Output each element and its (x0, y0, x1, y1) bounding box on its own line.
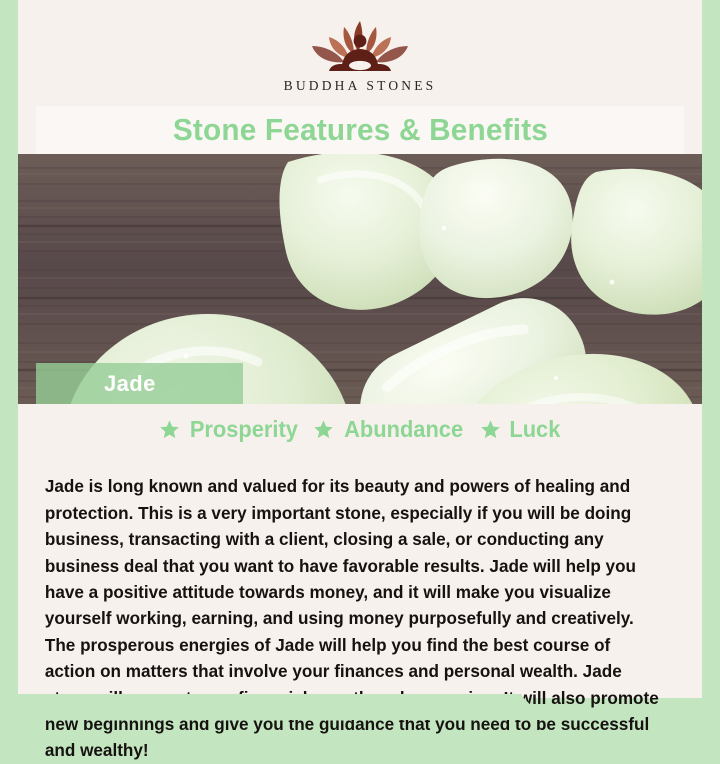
star-icon (313, 419, 334, 440)
brand-wordmark: BUDDHA STONES (284, 78, 437, 94)
stone-name-label: Jade (104, 371, 156, 397)
benefit-item-abundance: Abundance (313, 416, 466, 443)
brand-header: BUDDHA STONES (18, 0, 702, 108)
stone-description: Jade is long known and valued for its be… (36, 473, 674, 763)
lotus-meditation-icon (300, 15, 420, 77)
page-title: Stone Features & Benefits (172, 112, 547, 148)
stone-name-banner: Jade (36, 363, 243, 404)
bottom-accent-bar (0, 694, 545, 720)
title-band: Stone Features & Benefits (36, 106, 684, 154)
benefit-label: Prosperity (190, 416, 298, 443)
content-card: BUDDHA STONES Stone Features & Benefits (18, 0, 702, 698)
benefit-item-luck: Luck (480, 416, 562, 443)
poster-root: BUDDHA STONES Stone Features & Benefits (0, 0, 720, 720)
star-icon (159, 419, 180, 440)
stone-photo: Jade (18, 154, 702, 404)
benefit-label: Abundance (345, 416, 464, 443)
benefit-item-prosperity: Prosperity (159, 416, 301, 443)
benefit-label: Luck (509, 416, 560, 443)
star-icon (480, 419, 501, 440)
benefits-row: Prosperity Abundance Luck (36, 404, 684, 454)
